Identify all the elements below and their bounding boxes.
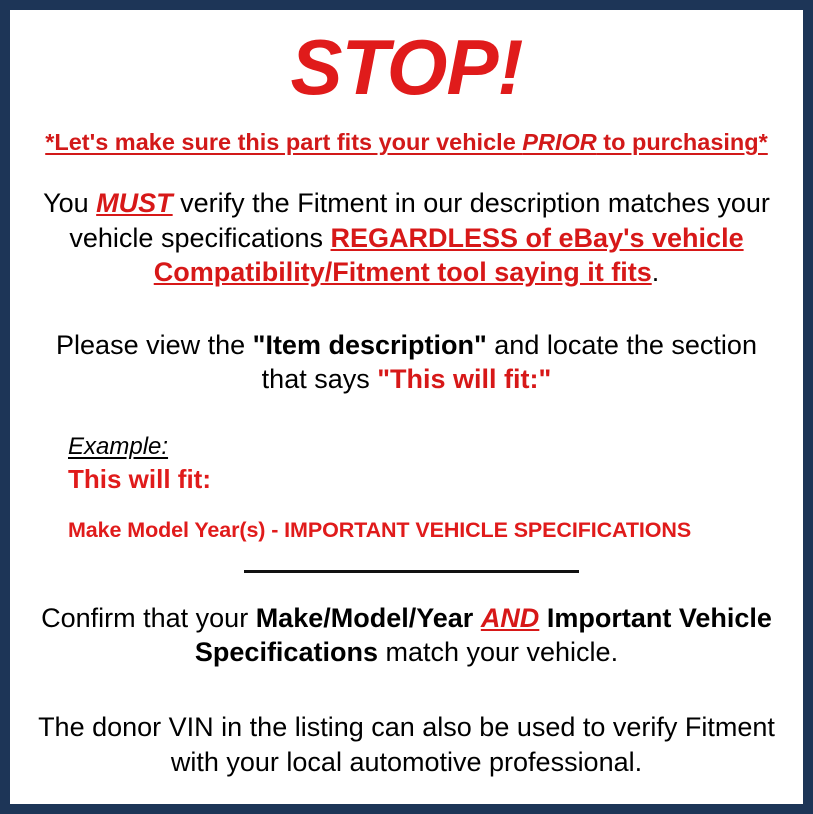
example-section: Example: This will fit: Make Model Year(…	[22, 433, 791, 543]
vin-paragraph: The donor VIN in the listing can also be…	[22, 710, 791, 779]
please-view-paragraph: Please view the "Item description" and l…	[22, 328, 791, 397]
example-fit-detail: Make Model Year(s) - IMPORTANT VEHICLE S…	[68, 518, 791, 543]
section-divider-wrap	[22, 570, 791, 573]
confirm-seg-1: Confirm that your	[41, 603, 256, 633]
item-description-emphasis: "Item description"	[253, 330, 487, 360]
must-verify-paragraph: You MUST verify the Fitment in our descr…	[22, 186, 791, 290]
must-seg-3: .	[652, 257, 660, 287]
this-will-fit-emphasis: "This will fit:"	[377, 364, 551, 394]
make-model-year-emphasis: Make/Model/Year	[256, 603, 474, 633]
and-emphasis: AND	[481, 603, 540, 633]
must-seg-1: You	[43, 188, 96, 218]
fitment-notice-card: STOP! *Let's make sure this part fits yo…	[0, 0, 813, 814]
subtitle-banner: *Let's make sure this part fits your veh…	[22, 128, 791, 156]
example-label-row: Example:	[68, 433, 791, 461]
subtitle-emphasis-prior: PRIOR	[522, 129, 596, 155]
confirm-paragraph: Confirm that your Make/Model/Year AND Im…	[22, 601, 791, 670]
subtitle-text-part2: to purchasing*	[597, 129, 768, 155]
notice-content: STOP! *Let's make sure this part fits yo…	[10, 10, 803, 804]
example-fit-heading: This will fit:	[68, 464, 791, 495]
confirm-space-2	[539, 603, 547, 633]
confirm-space-1	[473, 603, 481, 633]
please-seg-1: Please view the	[56, 330, 253, 360]
stop-heading: STOP!	[22, 28, 791, 106]
confirm-seg-2: match your vehicle.	[378, 637, 618, 667]
thank-you-message: Thank you for confirming Fitment!	[22, 801, 791, 814]
must-emphasis: MUST	[96, 188, 173, 218]
section-divider	[244, 570, 579, 573]
subtitle-text-part1: *Let's make sure this part fits your veh…	[45, 129, 522, 155]
example-label: Example:	[68, 433, 168, 461]
